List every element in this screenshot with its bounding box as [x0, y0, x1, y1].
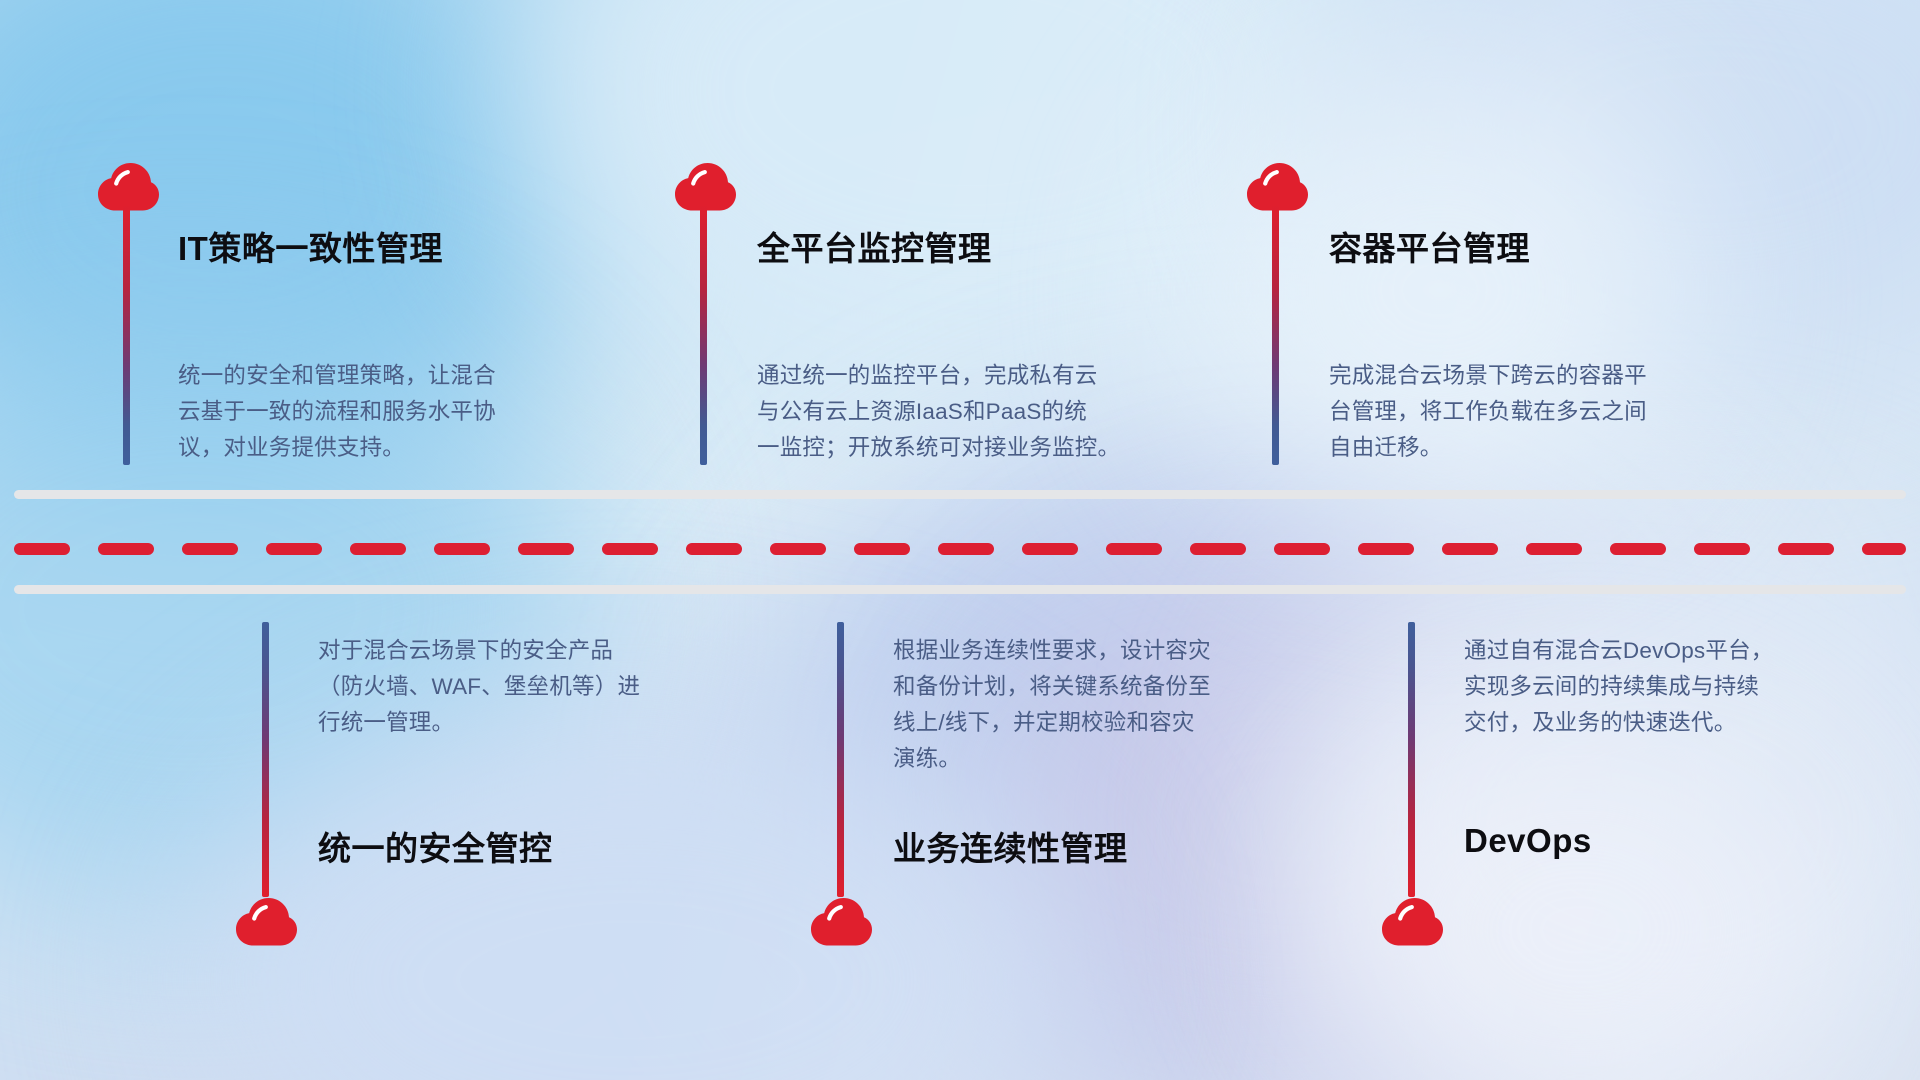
connector-stem	[837, 622, 844, 897]
top-column-2-title: 全平台监控管理	[757, 222, 992, 270]
bottom-column-1-title: 统一的安全管控	[318, 822, 553, 870]
center-divider	[0, 490, 1920, 600]
body-line: 对于混合云场景下的安全产品	[318, 633, 708, 669]
body-line: 与公有云上资源IaaS和PaaS的统	[757, 394, 1162, 430]
divider-rule-bottom	[14, 585, 1906, 594]
cloud-icon	[234, 895, 298, 947]
body-line: 线上/线下，并定期校验和容灾	[893, 705, 1283, 741]
top-column-1-body: 统一的安全和管理策略，让混合 云基于一致的流程和服务水平协 议，对业务提供支持。	[178, 358, 568, 466]
body-line: 通过统一的监控平台，完成私有云	[757, 358, 1162, 394]
body-line: 完成混合云场景下跨云的容器平	[1329, 358, 1719, 394]
body-line: 台管理，将工作负载在多云之间	[1329, 394, 1719, 430]
body-line: 议，对业务提供支持。	[178, 430, 568, 466]
body-line: 云基于一致的流程和服务水平协	[178, 394, 568, 430]
body-line: 交付，及业务的快速迭代。	[1464, 705, 1854, 741]
connector-stem	[1408, 622, 1415, 897]
divider-rule-top	[14, 490, 1906, 499]
top-column-3-body: 完成混合云场景下跨云的容器平 台管理，将工作负载在多云之间 自由迁移。	[1329, 358, 1719, 466]
bottom-column-3-body: 通过自有混合云DevOps平台， 实现多云间的持续集成与持续 交付，及业务的快速…	[1464, 633, 1854, 741]
top-column-2-body: 通过统一的监控平台，完成私有云 与公有云上资源IaaS和PaaS的统 一监控；开…	[757, 358, 1162, 466]
body-line: 一监控；开放系统可对接业务监控。	[757, 430, 1162, 466]
body-line: （防火墙、WAF、堡垒机等）进	[318, 669, 708, 705]
bottom-column-1-body: 对于混合云场景下的安全产品 （防火墙、WAF、堡垒机等）进 行统一管理。	[318, 633, 708, 741]
body-line: 自由迁移。	[1329, 430, 1719, 466]
top-column-1-title: IT策略一致性管理	[178, 222, 443, 270]
bottom-column-2-title: 业务连续性管理	[893, 822, 1128, 870]
connector-stem	[1272, 205, 1279, 465]
body-line: 和备份计划，将关键系统备份至	[893, 669, 1283, 705]
cloud-icon	[1380, 895, 1444, 947]
body-line: 通过自有混合云DevOps平台，	[1464, 633, 1854, 669]
cloud-icon	[809, 895, 873, 947]
divider-rule-dashed	[14, 543, 1906, 555]
top-column-3-title: 容器平台管理	[1329, 222, 1530, 270]
body-line: 根据业务连续性要求，设计容灾	[893, 633, 1283, 669]
body-line: 统一的安全和管理策略，让混合	[178, 358, 568, 394]
body-line: 演练。	[893, 741, 1283, 777]
body-line: 实现多云间的持续集成与持续	[1464, 669, 1854, 705]
connector-stem	[262, 622, 269, 897]
body-line: 行统一管理。	[318, 705, 708, 741]
connector-stem	[123, 205, 130, 465]
connector-stem	[700, 205, 707, 465]
bottom-column-2-body: 根据业务连续性要求，设计容灾 和备份计划，将关键系统备份至 线上/线下，并定期校…	[893, 633, 1283, 777]
bottom-column-3-title: DevOps	[1464, 822, 1592, 860]
